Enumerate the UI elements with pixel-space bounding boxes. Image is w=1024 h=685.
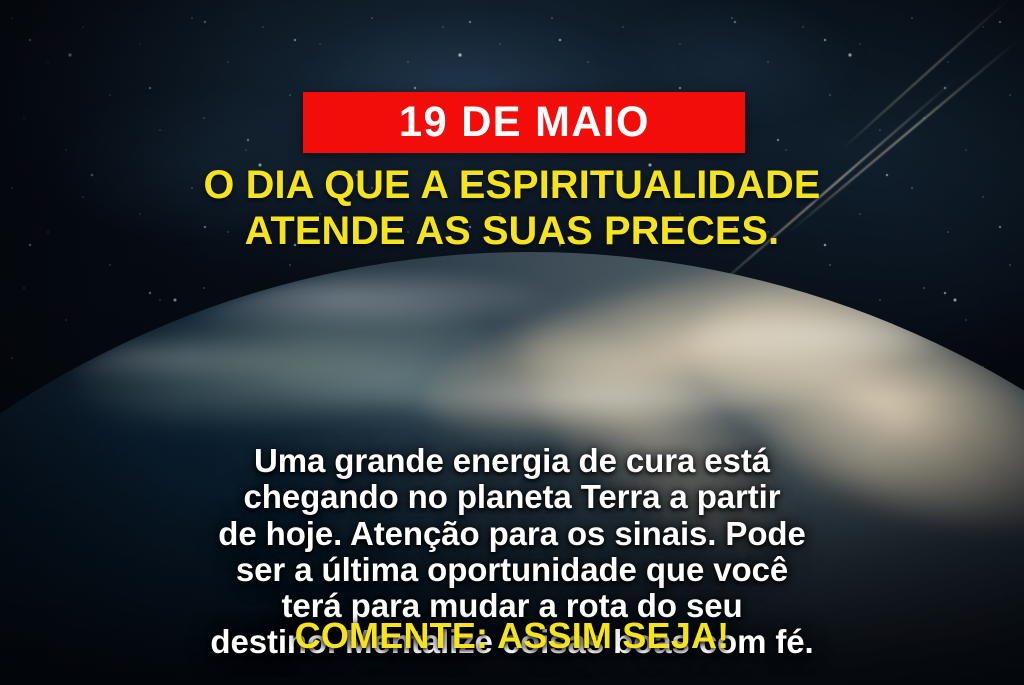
date-banner: 19 DE MAIO — [303, 92, 745, 153]
headline-line-1: O DIA QUE A ESPIRITUALIDADE — [5, 163, 1019, 209]
headline-line-2: ATENDE AS SUAS PRECES. — [5, 209, 1019, 255]
body-line-1: Uma grande energia de cura está — [0, 443, 1024, 479]
poster-canvas: 19 DE MAIO O DIA QUE A ESPIRITUALIDADE A… — [0, 0, 1024, 685]
body-line-2: chegando no planeta Terra a partir — [0, 479, 1024, 515]
body-line-3: de hoje. Atenção para os sinais. Pode — [0, 516, 1024, 552]
body-line-4: ser a última oportunidade que você — [0, 552, 1024, 588]
call-to-action-label: COMENTE: ASSIM SEJA! — [0, 617, 1024, 655]
content-layer: 19 DE MAIO O DIA QUE A ESPIRITUALIDADE A… — [0, 0, 1024, 685]
headline: O DIA QUE A ESPIRITUALIDADE ATENDE AS SU… — [0, 163, 1024, 254]
date-banner-label: 19 DE MAIO — [399, 101, 650, 144]
